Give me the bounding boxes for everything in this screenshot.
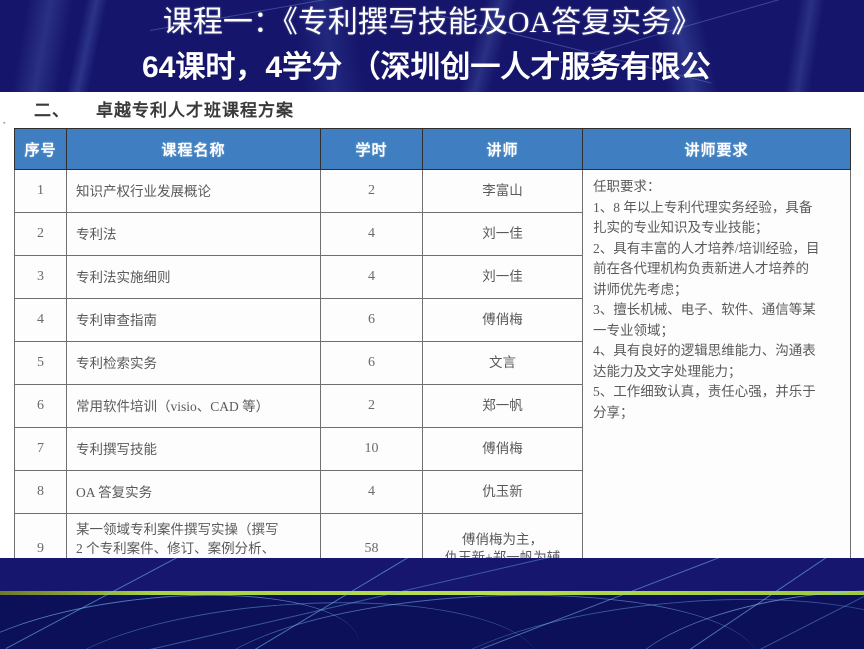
cell-course-name: 专利审查指南 [67,299,321,342]
requirement-line: 1、8 年以上专利代理实务经验，具备 [593,198,842,219]
requirement-line: 任职要求： [593,177,842,198]
cell-course-name: 常用软件培训（visio、CAD 等） [67,385,321,428]
column-header-course-name: 课程名称 [67,129,321,170]
column-header-no: 序号 [15,129,67,170]
cell-teacher: 傅俏梅 [423,299,583,342]
cell-hours: 6 [321,299,423,342]
course-name-line: 某一领域专利案件撰写实操（撰写 [76,520,316,539]
slide-body: 二、卓越专利人才班课程方案 ▪ 序号 课程名称 学时 讲师 讲师要求 1 知识产… [0,92,864,558]
table-header-row: 序号 课程名称 学时 讲师 讲师要求 [15,129,851,170]
slide-canvas: 课程一：《专利撰写技能及OA答复实务》 64课时，4学分 （深圳创一人才服务有限… [0,0,864,649]
title-banner: 课程一：《专利撰写技能及OA答复实务》 64课时，4学分 （深圳创一人才服务有限… [0,0,864,92]
requirement-line: 一专业领域； [593,321,842,342]
requirement-line: 3、擅长机械、电子、软件、通信等某 [593,300,842,321]
cell-course-name: 专利检索实务 [67,342,321,385]
cell-course-name: 知识产权行业发展概论 [67,170,321,213]
cell-hours: 4 [321,256,423,299]
cell-teacher: 郑一帆 [423,385,583,428]
cell-hours: 2 [321,170,423,213]
teacher-line: 傅俏梅为主， [424,531,581,549]
cell-teacher: 刘一佳 [423,256,583,299]
cell-course-name: 专利法 [67,213,321,256]
slide-footer [0,558,864,649]
cell-teacher: 刘一佳 [423,213,583,256]
bullet-marker-icon: ▪ [3,120,10,127]
section-number: 二、 [34,101,70,120]
cell-hours: 10 [321,428,423,471]
course-plan-table: 序号 课程名称 学时 讲师 讲师要求 1 知识产权行业发展概论 2 李富山 任职… [14,128,851,584]
cell-hours: 4 [321,471,423,514]
cell-no: 6 [15,385,67,428]
cell-no: 3 [15,256,67,299]
requirement-line: 4、具有良好的逻辑思维能力、沟通表 [593,341,842,362]
cell-hours: 4 [321,213,423,256]
section-title: 卓越专利人才班课程方案 [96,101,294,120]
cell-teacher: 傅俏梅 [423,428,583,471]
requirement-line: 讲师优先考虑； [593,280,842,301]
column-header-hours: 学时 [321,129,423,170]
requirement-line: 前在各代理机构负责新进人才培养的 [593,259,842,280]
cell-no: 2 [15,213,67,256]
requirement-line: 分享； [593,403,842,424]
section-heading: 二、卓越专利人才班课程方案 [34,96,294,121]
cell-hours: 6 [321,342,423,385]
requirement-line: 5、工作细致认真，责任心强，并乐于 [593,382,842,403]
course-name-line: 2 个专利案件、修订、案例分析、 [76,539,316,558]
cell-no: 7 [15,428,67,471]
requirement-line: 扎实的专业知识及专业技能； [593,218,842,239]
cell-course-name: 专利撰写技能 [67,428,321,471]
footer-lower-band [0,595,864,649]
column-header-teacher: 讲师 [423,129,583,170]
table-row: 1 知识产权行业发展概论 2 李富山 任职要求： 1、8 年以上专利代理实务经验… [15,170,851,213]
footer-upper-band [0,558,864,592]
cell-no: 8 [15,471,67,514]
cell-teacher-requirements: 任职要求： 1、8 年以上专利代理实务经验，具备 扎实的专业知识及专业技能； 2… [583,170,851,584]
cell-no: 5 [15,342,67,385]
requirement-line: 2、具有丰富的人才培养/培训经验，目 [593,239,842,260]
slide-title-line-2: 64课时，4学分 （深圳创一人才服务有限公 [142,46,864,90]
cell-course-name: 专利法实施细则 [67,256,321,299]
column-header-requirement: 讲师要求 [583,129,851,170]
footer-accent-rule [0,591,864,595]
cell-hours: 2 [321,385,423,428]
slide-title-line-1: 课程一：《专利撰写技能及OA答复实务》 [0,1,864,45]
cell-course-name: OA 答复实务 [67,471,321,514]
cell-teacher: 文言 [423,342,583,385]
cell-teacher: 仇玉新 [423,471,583,514]
cell-teacher: 李富山 [423,170,583,213]
cell-no: 1 [15,170,67,213]
requirement-line: 达能力及文字处理能力； [593,362,842,383]
cell-no: 4 [15,299,67,342]
